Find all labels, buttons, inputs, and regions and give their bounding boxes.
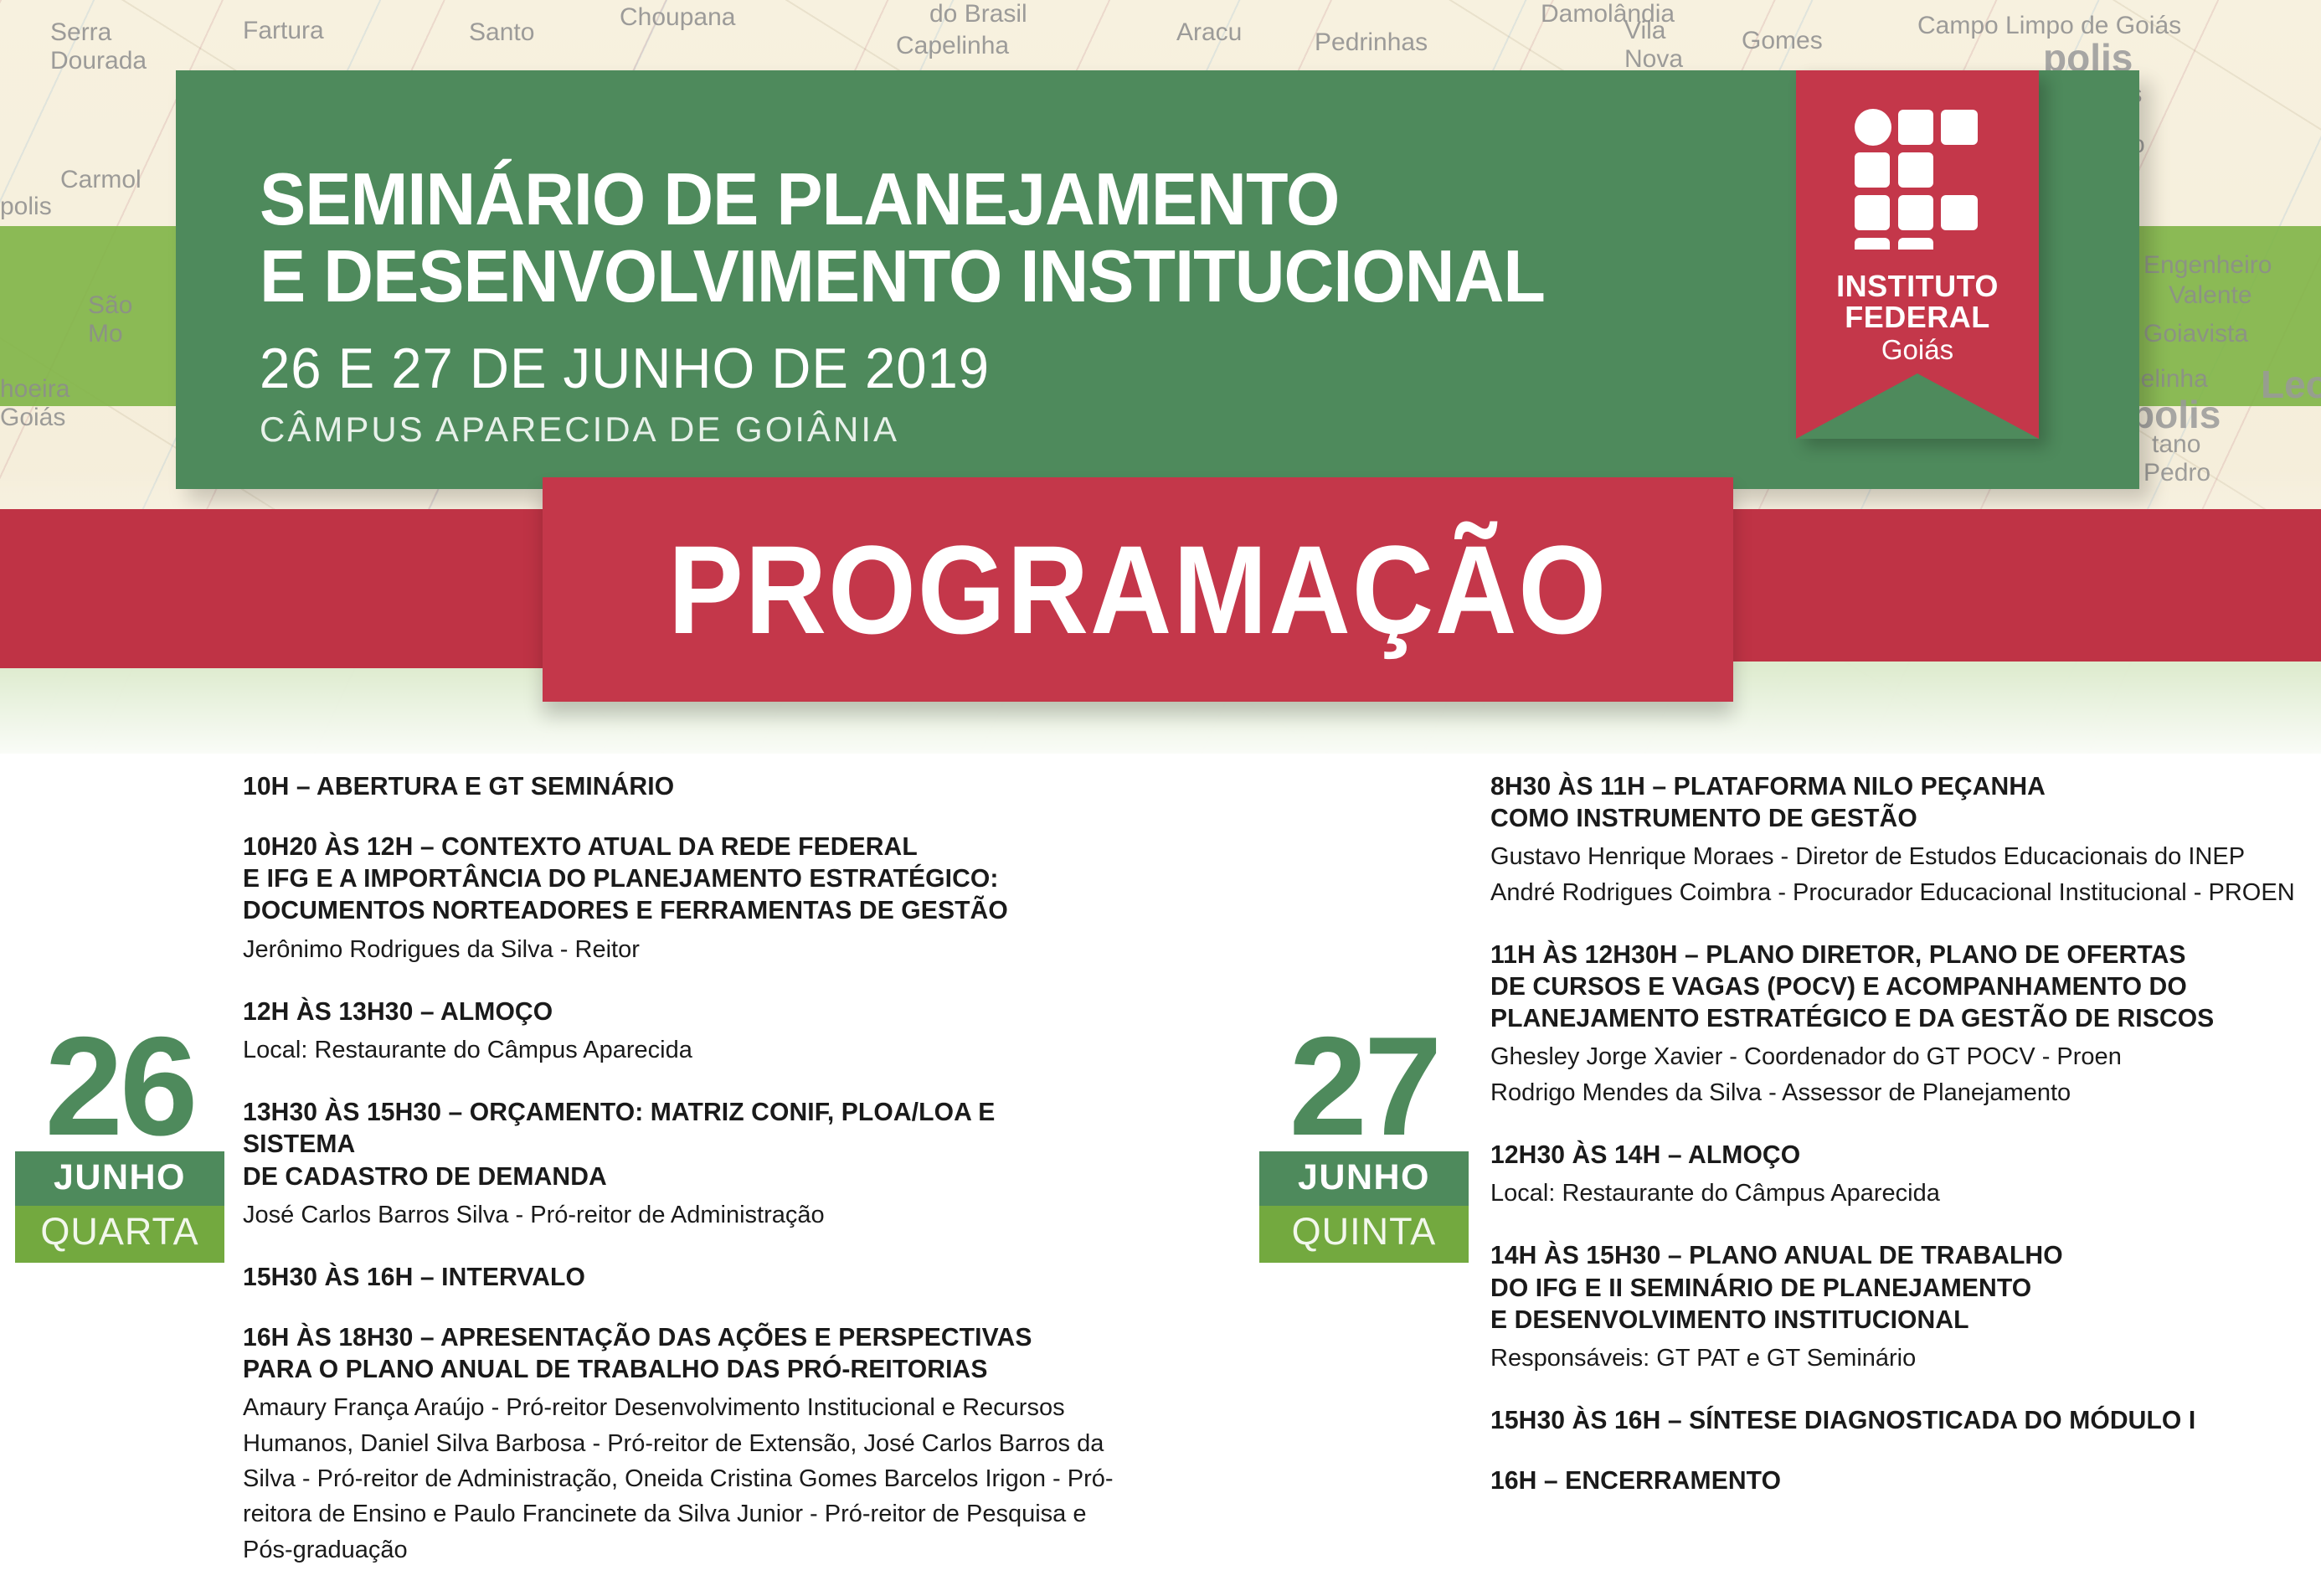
schedule-item-title: 12H ÀS 13H30 – ALMOÇO <box>243 996 1104 1027</box>
schedule-item-title: 15H30 ÀS 16H – INTERVALO <box>243 1261 1104 1293</box>
event-place: CÂMPUS APARECIDA DE GOIÂNIA <box>260 409 1627 450</box>
schedule-item: 13H30 ÀS 15H30 – ORÇAMENTO: MATRIZ CONIF… <box>243 1096 1130 1233</box>
schedule-item-speakers: José Carlos Barros Silva - Pró-reitor de… <box>243 1197 1130 1233</box>
schedule-item-speaker-line: Ghesley Jorge Xavier - Coordenador do GT… <box>1490 1039 2319 1074</box>
day-number: 26 <box>15 1022 224 1151</box>
map-label: Carmol <box>60 166 142 194</box>
schedule-item-title: 15H30 ÀS 16H – SÍNTESE DIAGNOSTICADA DO … <box>1490 1404 2294 1436</box>
schedule-items-27: 8H30 ÀS 11H – PLATAFORMA NILO PEÇANHACOM… <box>1490 770 2319 1525</box>
schedule-item-title-line: DO IFG E II SEMINÁRIO DE PLANEJAMENTO <box>1490 1272 2294 1304</box>
day-number: 27 <box>1259 1022 1469 1151</box>
schedule-item: 14H ÀS 15H30 – PLANO ANUAL DE TRABALHODO… <box>1490 1239 2319 1376</box>
map-label: do Brasil <box>929 0 1027 28</box>
banner-tail-left <box>0 509 603 668</box>
schedule-item-title-line: PARA O PLANO ANUAL DE TRABALHO DAS PRÓ-R… <box>243 1353 1104 1385</box>
schedule-item-speaker-line: José Carlos Barros Silva - Pró-reitor de… <box>243 1197 1130 1233</box>
schedule-item-title-line: DOCUMENTOS NORTEADORES E FERRAMENTAS DE … <box>243 894 1104 926</box>
schedule-item-title: 16H – ENCERRAMENTO <box>1490 1465 2294 1496</box>
map-label: Fartura <box>243 17 324 45</box>
schedule-item-title-line: 12H30 ÀS 14H – ALMOÇO <box>1490 1139 2294 1171</box>
banner-tail-right <box>1725 509 2321 662</box>
schedule-item: 10H – ABERTURA E GT SEMINÁRIO <box>243 770 1130 802</box>
schedule-item-title-line: 12H ÀS 13H30 – ALMOÇO <box>243 996 1104 1027</box>
schedule-item-speaker-line: Rodrigo Mendes da Silva - Assessor de Pl… <box>1490 1075 2319 1110</box>
schedule-item-title-line: 16H ÀS 18H30 – APRESENTAÇÃO DAS AÇÕES E … <box>243 1321 1104 1353</box>
schedule-item-speakers: Jerônimo Rodrigues da Silva - Reitor <box>243 932 1130 967</box>
map-label: Gomes <box>1742 27 1823 55</box>
map-label: Engenheiro <box>2143 251 2272 280</box>
schedule-item: 8H30 ÀS 11H – PLATAFORMA NILO PEÇANHACOM… <box>1490 770 2319 910</box>
day-badge-26: 26 JUNHO QUARTA <box>15 1022 224 1263</box>
schedule-item-speaker-line: Local: Restaurante do Câmpus Aparecida <box>1490 1176 2319 1211</box>
ifg-logo-wordmark: INSTITUTO FEDERAL Goiás <box>1796 271 2039 368</box>
schedule-item-title-line: 13H30 ÀS 15H30 – ORÇAMENTO: MATRIZ CONIF… <box>243 1096 1104 1160</box>
schedule-item: 12H ÀS 13H30 – ALMOÇOLocal: Restaurante … <box>243 996 1130 1068</box>
schedule-item-title: 8H30 ÀS 11H – PLATAFORMA NILO PEÇANHACOM… <box>1490 770 2294 834</box>
schedule-section: 26 JUNHO QUARTA 27 JUNHO QUINTA 10H – AB… <box>0 770 2321 1595</box>
logo-line-instituto: INSTITUTO <box>1796 271 2039 302</box>
schedule-item-title-line: 14H ÀS 15H30 – PLANO ANUAL DE TRABALHO <box>1490 1239 2294 1271</box>
banner-center: PROGRAMAÇÃO <box>543 477 1733 702</box>
schedule-item-title-line: 16H – ENCERRAMENTO <box>1490 1465 2294 1496</box>
schedule-item-title-line: 15H30 ÀS 16H – SÍNTESE DIAGNOSTICADA DO … <box>1490 1404 2294 1436</box>
schedule-item-title-line: COMO INSTRUMENTO DE GESTÃO <box>1490 802 2294 834</box>
day-weekday: QUINTA <box>1259 1206 1469 1263</box>
event-title-line-2: E DESENVOLVIMENTO INSTITUCIONAL <box>260 238 1545 315</box>
map-label: Aracu <box>1176 18 1242 47</box>
schedule-item: 15H30 ÀS 16H – INTERVALO <box>243 1261 1130 1293</box>
schedule-item: 11H ÀS 12H30H – PLANO DIRETOR, PLANO DE … <box>1490 939 2319 1110</box>
schedule-item-speaker-line: André Rodrigues Coimbra - Procurador Edu… <box>1490 875 2319 910</box>
schedule-item-title: 16H ÀS 18H30 – APRESENTAÇÃO DAS AÇÕES E … <box>243 1321 1104 1385</box>
schedule-item: 12H30 ÀS 14H – ALMOÇOLocal: Restaurante … <box>1490 1139 2319 1211</box>
schedule-item-speakers: Local: Restaurante do Câmpus Aparecida <box>1490 1176 2319 1211</box>
schedule-item-title: 12H30 ÀS 14H – ALMOÇO <box>1490 1139 2294 1171</box>
map-label: Santo <box>469 18 534 47</box>
event-title-line-1: SEMINÁRIO DE PLANEJAMENTO <box>260 161 1545 238</box>
map-label: Choupana <box>620 3 735 32</box>
logo-line-goias: Goiás <box>1796 332 2039 367</box>
schedule-item-title-line: E DESENVOLVIMENTO INSTITUCIONAL <box>1490 1304 2294 1336</box>
schedule-item-speakers: Gustavo Henrique Moraes - Diretor de Est… <box>1490 839 2319 910</box>
map-label: hoeira Goiás <box>0 375 69 432</box>
schedule-item-speakers: Local: Restaurante do Câmpus Aparecida <box>243 1032 1130 1068</box>
title-block: SEMINÁRIO DE PLANEJAMENTO E DESENVOLVIME… <box>260 161 1627 450</box>
map-label: Pedrinhas <box>1315 28 1428 57</box>
event-date: 26 E 27 DE JUNHO DE 2019 <box>260 336 1572 401</box>
schedule-item-title-line: 15H30 ÀS 16H – INTERVALO <box>243 1261 1104 1293</box>
schedule-item: 10H20 ÀS 12H – CONTEXTO ATUAL DA REDE FE… <box>243 831 1130 967</box>
logo-line-federal: FEDERAL <box>1796 302 2039 333</box>
schedule-item-title-line: 10H20 ÀS 12H – CONTEXTO ATUAL DA REDE FE… <box>243 831 1104 862</box>
schedule-item-title: 11H ÀS 12H30H – PLANO DIRETOR, PLANO DE … <box>1490 939 2294 1034</box>
schedule-item-speaker-line: Amaury França Araújo - Pró-reitor Desenv… <box>243 1390 1130 1568</box>
schedule-item-speaker-line: Local: Restaurante do Câmpus Aparecida <box>243 1032 1130 1068</box>
if-grid-icon <box>1855 109 1980 254</box>
schedule-item-title-line: E IFG E A IMPORTÂNCIA DO PLANEJAMENTO ES… <box>243 862 1104 894</box>
schedule-item-title-line: 11H ÀS 12H30H – PLANO DIRETOR, PLANO DE … <box>1490 939 2294 970</box>
schedule-item: 16H ÀS 18H30 – APRESENTAÇÃO DAS AÇÕES E … <box>243 1321 1130 1568</box>
schedule-item-title-line: 8H30 ÀS 11H – PLATAFORMA NILO PEÇANHA <box>1490 770 2294 802</box>
schedule-item-title-line: PLANEJAMENTO ESTRATÉGICO E DA GESTÃO DE … <box>1490 1002 2294 1034</box>
schedule-item-speaker-line: Gustavo Henrique Moraes - Diretor de Est… <box>1490 839 2319 874</box>
schedule-item-title: 10H – ABERTURA E GT SEMINÁRIO <box>243 770 1104 802</box>
schedule-item-title: 14H ÀS 15H30 – PLANO ANUAL DE TRABALHODO… <box>1490 1239 2294 1335</box>
map-label: Serra Dourada <box>50 18 147 75</box>
day-weekday: QUARTA <box>15 1206 224 1263</box>
banner-label: PROGRAMAÇÃO <box>602 477 1674 702</box>
schedule-item-title: 10H20 ÀS 12H – CONTEXTO ATUAL DA REDE FE… <box>243 831 1104 926</box>
schedule-item-speaker-line: Jerônimo Rodrigues da Silva - Reitor <box>243 932 1130 967</box>
schedule-item-speakers: Responsáveis: GT PAT e GT Seminário <box>1490 1341 2319 1376</box>
schedule-item-title-line: DE CURSOS E VAGAS (POCV) E ACOMPANHAMENT… <box>1490 970 2294 1002</box>
schedule-item-title: 13H30 ÀS 15H30 – ORÇAMENTO: MATRIZ CONIF… <box>243 1096 1104 1192</box>
schedule-items-26: 10H – ABERTURA E GT SEMINÁRIO10H20 ÀS 12… <box>243 770 1130 1596</box>
schedule-item-speakers: Amaury França Araújo - Pró-reitor Desenv… <box>243 1390 1130 1568</box>
map-label: Vila Nova <box>1624 17 1683 74</box>
map-label: São Mo <box>88 291 132 348</box>
schedule-item-speaker-line: Responsáveis: GT PAT e GT Seminário <box>1490 1341 2319 1376</box>
map-label: Valente <box>2169 281 2252 310</box>
schedule-item-title-line: DE CADASTRO DE DEMANDA <box>243 1161 1104 1192</box>
programacao-banner: PROGRAMAÇÃO <box>0 469 2321 720</box>
schedule-item-speakers: Ghesley Jorge Xavier - Coordenador do GT… <box>1490 1039 2319 1110</box>
day-badge-27: 27 JUNHO QUINTA <box>1259 1022 1469 1263</box>
map-label: Goiavista <box>2143 320 2248 348</box>
schedule-item: 15H30 ÀS 16H – SÍNTESE DIAGNOSTICADA DO … <box>1490 1404 2319 1436</box>
map-label: Capelinha <box>896 32 1009 60</box>
map-label: polis <box>0 193 52 221</box>
schedule-item-title-line: 10H – ABERTURA E GT SEMINÁRIO <box>243 770 1104 802</box>
map-label: tano <box>2152 430 2200 459</box>
schedule-item: 16H – ENCERRAMENTO <box>1490 1465 2319 1496</box>
map-label: Leo <box>2261 362 2321 407</box>
